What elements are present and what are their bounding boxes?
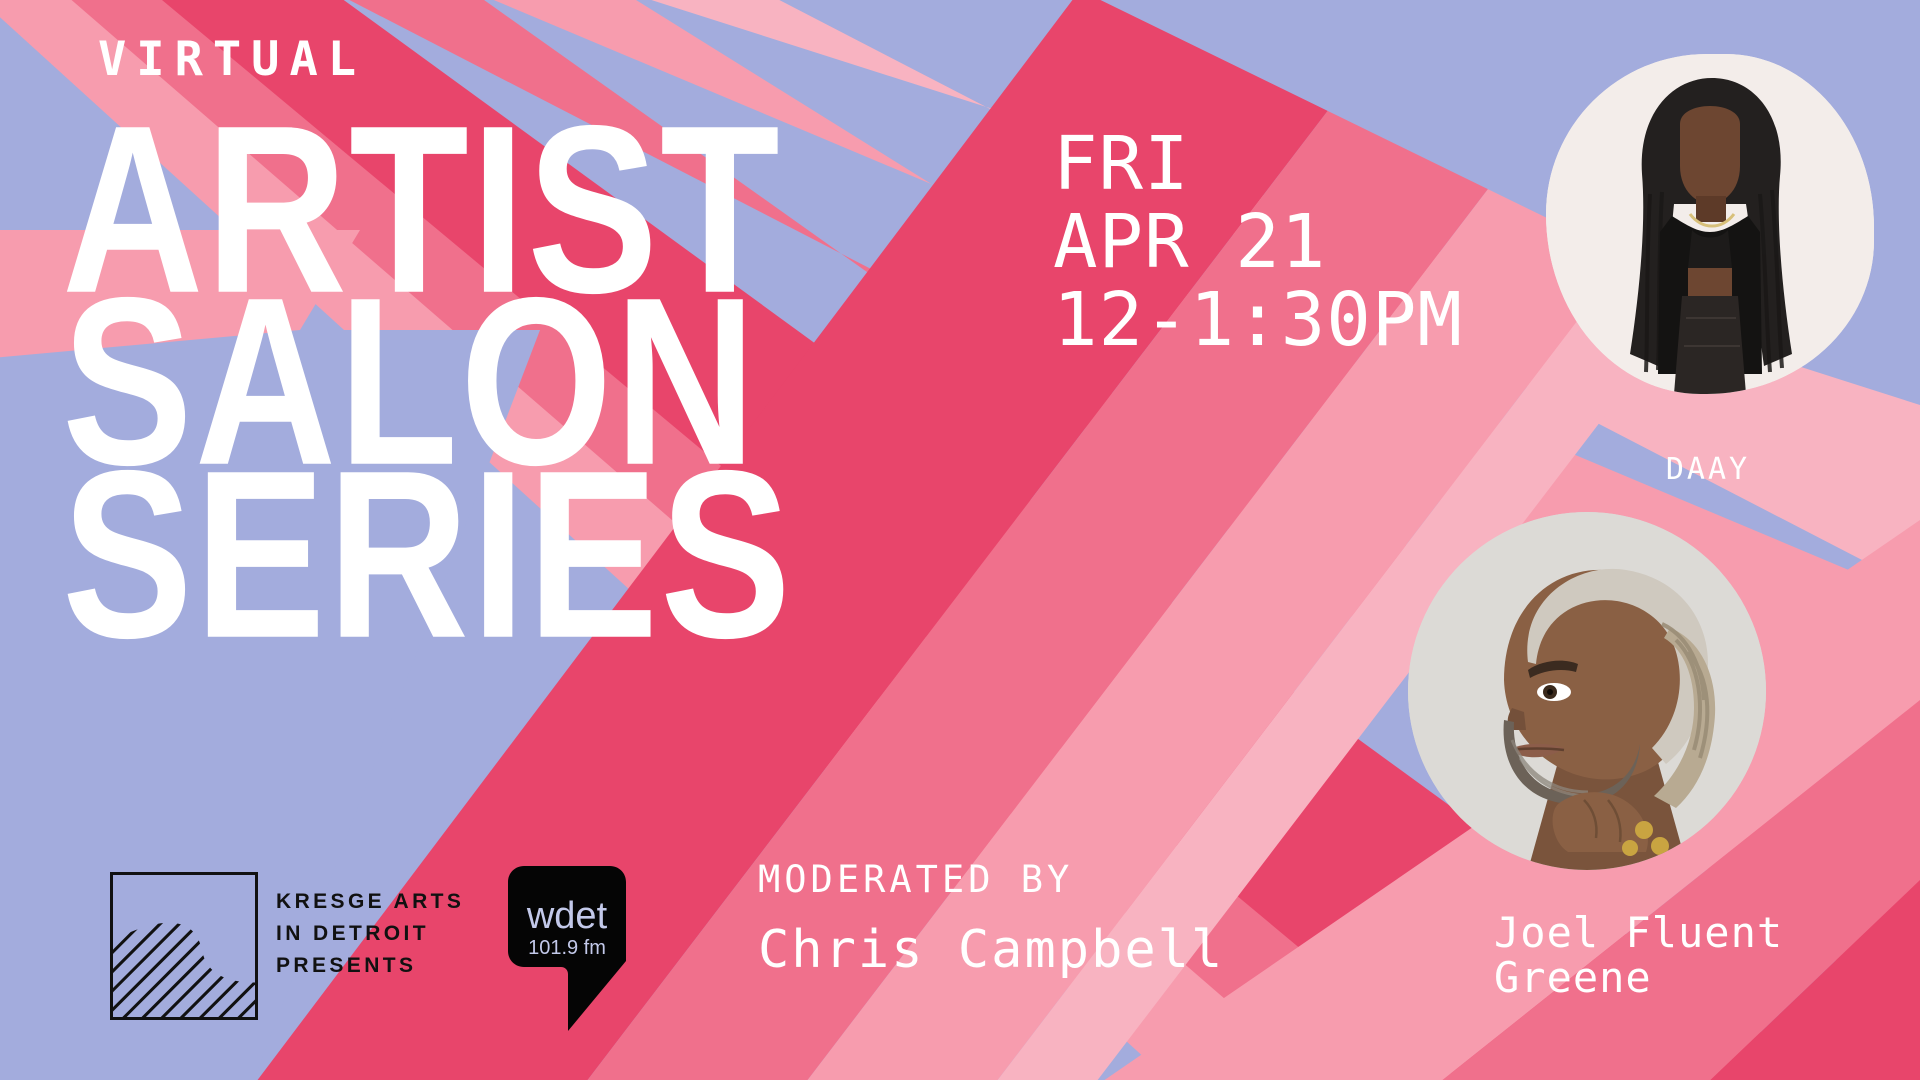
kresge-line-3: PRESENTS [276,950,464,982]
guest-name-joel-line1: Joel Fluent [1494,910,1783,955]
guest-name-joel: Joel Fluent Greene [1494,910,1783,1001]
guest-portrait-daay [1546,54,1874,394]
title-line-series: SERIES [62,455,793,656]
wdet-callsign: wdet [526,895,608,937]
event-poster: VIRTUAL ARTIST SALON SERIES FRI APR 21 1… [0,0,1920,1080]
guest-name-daay: DAAY [1666,452,1750,487]
event-date: APR 21 [1053,203,1463,281]
guest-name-joel-line2: Greene [1494,955,1783,1000]
kresge-line-1: KRESGE ARTS [276,886,464,918]
guest-portrait-joel [1408,512,1766,870]
moderator-label: MODERATED BY [758,858,1073,901]
kresge-line-2: IN DETROIT [276,918,464,950]
event-time: 12-1:30PM [1053,281,1463,359]
wdet-logo: wdet 101.9 fm [508,866,626,1031]
event-datetime: FRI APR 21 12-1:30PM [1053,125,1463,359]
wdet-frequency: 101.9 fm [528,937,606,959]
kresge-logo-text: KRESGE ARTS IN DETROIT PRESENTS [276,886,464,982]
moderator-name: Chris Campbell [758,920,1224,980]
kresge-logo-mark [110,872,258,1020]
event-day: FRI [1053,125,1463,203]
